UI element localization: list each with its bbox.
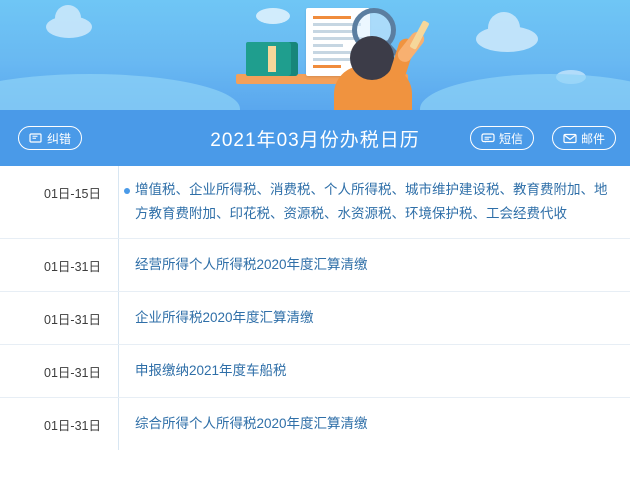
- mail-label: 邮件: [581, 130, 605, 147]
- row-item-label[interactable]: 经营所得个人所得税2020年度汇算清缴: [135, 253, 612, 277]
- row-date: 01日-15日: [0, 166, 118, 202]
- page-title: 2021年03月份办税日历: [210, 125, 419, 152]
- row-date: 01日-31日: [0, 345, 118, 381]
- cloud-icon: [256, 8, 290, 24]
- book-icon: [246, 42, 298, 76]
- row-content: 企业所得税2020年度汇算清缴: [119, 292, 630, 344]
- horizontal-scrollbar[interactable]: [0, 496, 630, 502]
- flag-icon: [29, 133, 43, 144]
- mail-icon: [563, 133, 577, 144]
- hill-shape: [0, 74, 240, 110]
- report-error-button[interactable]: 纠错: [18, 126, 82, 150]
- row-content: 增值税、企业所得税、消费税、个人所得税、城市维护建设税、教育费附加、地方教育费附…: [119, 166, 630, 238]
- calendar-row[interactable]: 01日-31日 申报缴纳2021年度车船税: [0, 345, 630, 398]
- bullet-icon: [124, 188, 130, 194]
- calendar-row[interactable]: 01日-31日 综合所得个人所得税2020年度汇算清缴: [0, 398, 630, 450]
- row-content: 经营所得个人所得税2020年度汇算清缴: [119, 239, 630, 291]
- tax-calendar-page: 纠错 2021年03月份办税日历 短信 邮件: [0, 0, 630, 502]
- sms-button[interactable]: 短信: [470, 126, 534, 150]
- calendar-row[interactable]: 01日-31日 企业所得税2020年度汇算清缴: [0, 292, 630, 345]
- calendar-list: 01日-15日 增值税、企业所得税、消费税、个人所得税、城市维护建设税、教育费附…: [0, 166, 630, 450]
- mail-button[interactable]: 邮件: [552, 126, 616, 150]
- row-date: 01日-31日: [0, 292, 118, 328]
- row-content: 综合所得个人所得税2020年度汇算清缴: [119, 398, 630, 450]
- cloud-icon: [476, 26, 538, 52]
- row-item-label[interactable]: 综合所得个人所得税2020年度汇算清缴: [135, 412, 612, 436]
- calendar-row[interactable]: 01日-31日 经营所得个人所得税2020年度汇算清缴: [0, 239, 630, 292]
- sms-icon: [481, 133, 495, 144]
- row-item-label[interactable]: 增值税、企业所得税、消费税、个人所得税、城市维护建设税、教育费附加、地方教育费附…: [135, 178, 612, 226]
- report-error-label: 纠错: [47, 130, 71, 147]
- row-content: 申报缴纳2021年度车船税: [119, 345, 630, 397]
- calendar-row[interactable]: 01日-15日 增值税、企业所得税、消费税、个人所得税、城市维护建设税、教育费附…: [0, 166, 630, 239]
- row-item-label[interactable]: 企业所得税2020年度汇算清缴: [135, 306, 612, 330]
- row-date: 01日-31日: [0, 398, 118, 434]
- person-head: [350, 36, 394, 80]
- illustration-banner: [0, 0, 630, 110]
- row-date: 01日-31日: [0, 239, 118, 275]
- cloud-icon: [46, 16, 92, 38]
- header-bar: 纠错 2021年03月份办税日历 短信 邮件: [0, 110, 630, 166]
- sms-label: 短信: [499, 130, 523, 147]
- hill-shape: [420, 74, 630, 110]
- row-item-label[interactable]: 申报缴纳2021年度车船税: [135, 359, 612, 383]
